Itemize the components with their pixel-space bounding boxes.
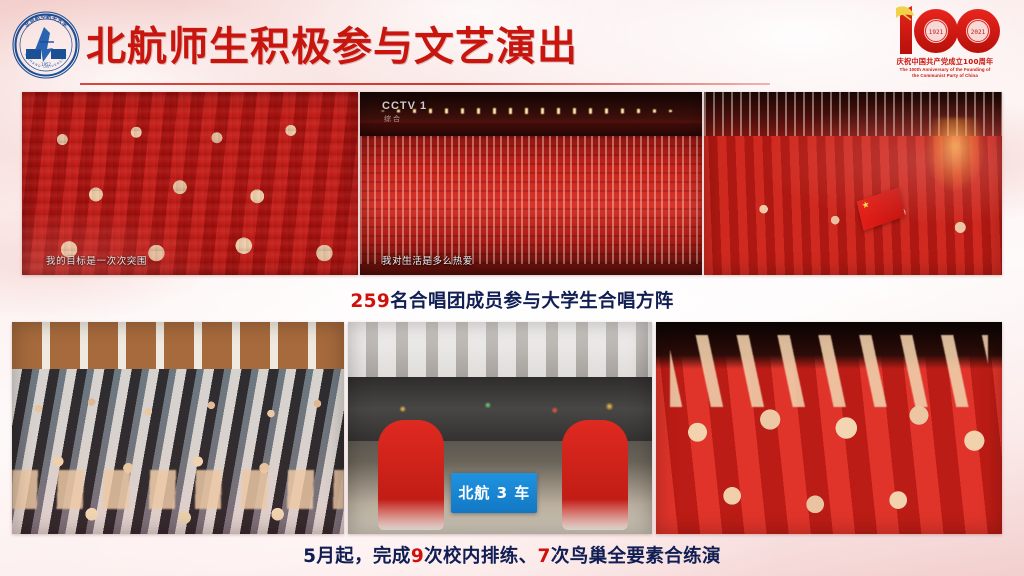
cctv-watermark: CCTV 1 [382,100,427,112]
photo-auditorium-oath [12,322,344,534]
cctv-watermark-channel: 1 [420,100,427,112]
balcony-band [360,123,702,136]
slide-header: 北京航空航天大学 BEIHANG UNIVERSITY 1952 北航师生积极参… [0,0,1024,92]
student-crowd [12,369,344,534]
photo-subtitle-hall-wide: 我对生活是多么热爱 [382,253,702,267]
photo-hall-wide: CCTV 1 综合 我对生活是多么热爱 [360,92,702,275]
bus-route-sign: 北航 3 车 [451,473,537,513]
svg-text:1921: 1921 [929,29,944,36]
photo-choir-closeup: 我的目标是一次次突围 [22,92,358,275]
caption-rehearsals-count-campus: 9 [411,546,424,567]
cctv-watermark-label: CCTV [382,100,416,112]
caption-choir-count: 259名合唱团成员参与大学生合唱方阵 [0,287,1024,313]
cctv-watermark-subtitle: 综合 [384,114,402,124]
caption-rehearsals-part1: 5月起，完成 [303,546,411,567]
caption-choir-count-text: 名合唱团成员参与大学生合唱方阵 [390,291,674,312]
outstretched-arms [12,470,344,508]
caption-choir-count-number: 259 [350,291,390,312]
caption-rehearsals-count-stadium: 7 [538,546,551,567]
cpc-emblem-text-en: The 100th Anniversary of the Founding of… [874,67,1016,78]
cpc-100th-anniversary-emblem: 1921 2021 庆祝中国共产党成立100周年 The 100th Anniv… [874,2,1016,86]
presentation-slide: 北京航空航天大学 BEIHANG UNIVERSITY 1952 北航师生积极参… [0,0,1024,576]
bus-ceiling [348,322,652,377]
caption-rehearsals: 5月起，完成9次校内排练、7次鸟巢全要素合练演 [0,542,1024,568]
page-title: 北航师生积极参与文艺演出 [86,14,578,72]
cpc-emblem-text-cn: 庆祝中国共产党成立100周年 [874,57,1016,67]
photo-cheering-group [656,322,1002,534]
cpc-emblem-text-en-line2: the Communist Party of China [874,73,1016,79]
photo-subtitle-choir-closeup: 我的目标是一次次突围 [46,253,358,267]
bus-passenger-left [378,420,444,530]
stage-spotlight [926,118,984,190]
audience-seats-texture [360,136,702,264]
svg-text:1952: 1952 [41,62,51,67]
raised-hands [670,335,988,407]
bus-passenger-right [562,420,628,530]
title-underline-rule [80,83,770,85]
photo-flag-crowd [704,92,1002,275]
svg-text:2021: 2021 [971,29,986,36]
photo-grain-overlay [22,92,358,275]
photo-bus-interior: 北航 3 车 [348,322,652,534]
caption-rehearsals-part2: 次校内排练、 [424,546,537,567]
beihang-university-logo: 北京航空航天大学 BEIHANG UNIVERSITY 1952 [10,9,82,81]
caption-rehearsals-part3: 次鸟巢全要素合练演 [551,546,721,567]
